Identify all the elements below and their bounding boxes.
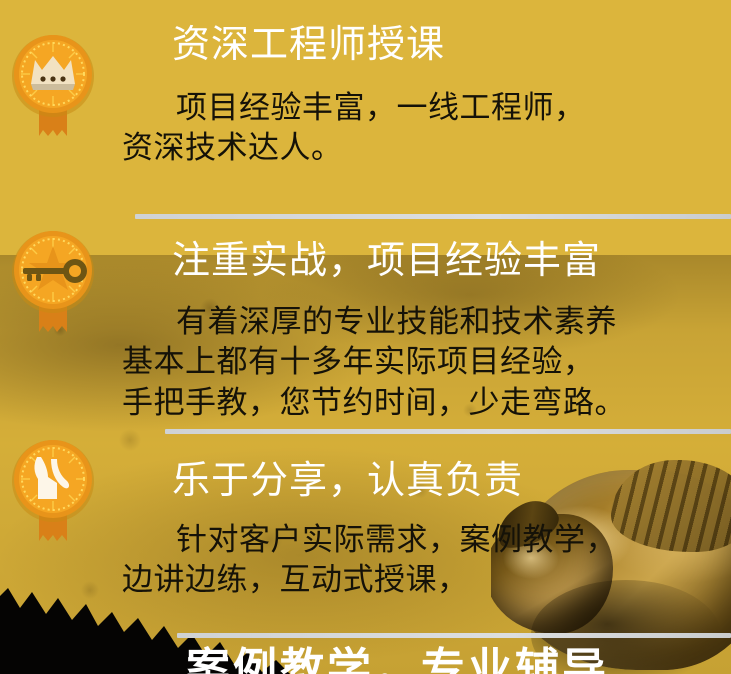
section-2-body-line-3: 手把手教，您节约时间，少走弯路。 <box>122 383 626 423</box>
section-3-body: 针对客户实际需求，案例教学， 边讲边练，互动式授课， <box>122 520 617 601</box>
section-2-heading: 注重实战，项目经验丰富 <box>172 240 601 281</box>
section-1-heading: 资深工程师授课 <box>172 24 445 65</box>
section-1-body: 项目经验丰富，一线工程师， 资深技术达人。 <box>122 88 586 169</box>
section-divider-1 <box>135 214 731 219</box>
bottom-partial-heading: 案例教学，专业辅导 <box>186 648 609 674</box>
section-1-body-line-1: 项目经验丰富，一线工程师， <box>122 88 586 128</box>
section-3-body-line-2: 边讲边练，互动式授课， <box>122 560 617 600</box>
section-2-body-line-1: 有着深厚的专业技能和技术素养 <box>122 302 626 342</box>
section-divider-3 <box>177 633 731 638</box>
hand-medal-icon <box>7 437 99 545</box>
section-1-body-line-2: 资深技术达人。 <box>122 128 586 168</box>
section-2-body-line-2: 基本上都有十多年实际项目经验， <box>122 342 626 382</box>
section-2-body: 有着深厚的专业技能和技术素养 基本上都有十多年实际项目经验， 手把手教，您节约时… <box>122 302 626 423</box>
crown-medal-icon <box>7 32 99 140</box>
section-3-body-line-1: 针对客户实际需求，案例教学， <box>122 520 617 560</box>
section-3-heading: 乐于分享，认真负责 <box>172 460 523 501</box>
key-medal-icon <box>7 228 99 336</box>
section-divider-2 <box>165 429 731 434</box>
promo-poster: 资深工程师授课 项目经验丰富，一线工程师， 资深技术达人。 注重实战 <box>0 0 731 674</box>
